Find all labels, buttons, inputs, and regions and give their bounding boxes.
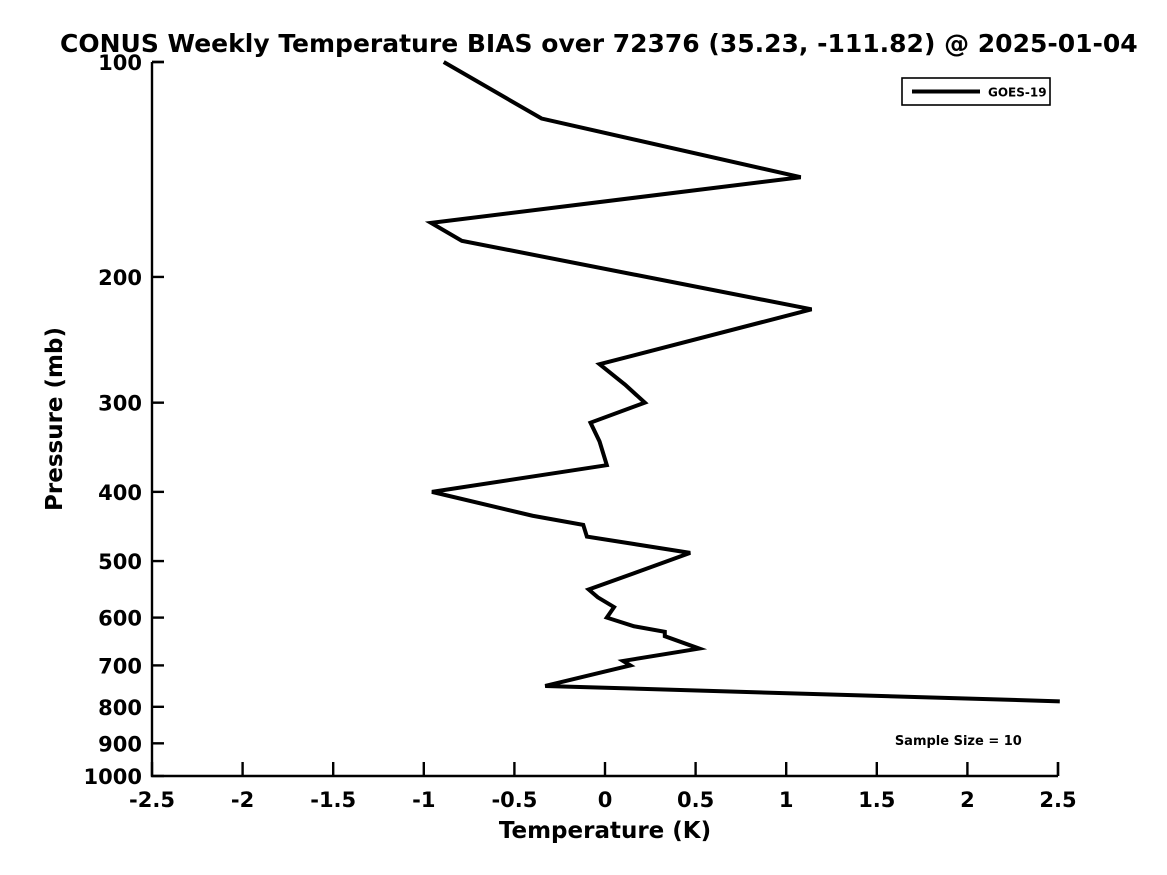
sample-size-annotation: Sample Size = 10 bbox=[895, 734, 1022, 749]
x-tick-label: 2 bbox=[960, 788, 975, 812]
y-tick-label: 700 bbox=[98, 654, 142, 678]
x-axis-label: Temperature (K) bbox=[499, 818, 711, 844]
x-tick-label: -2.5 bbox=[129, 788, 175, 812]
data-series-group bbox=[431, 62, 1060, 701]
y-tick-label: 600 bbox=[98, 607, 142, 631]
x-tick-label: 0 bbox=[598, 788, 613, 812]
y-tick-label: 200 bbox=[98, 266, 142, 290]
chart-title-group: CONUS Weekly Temperature BIAS over 72376… bbox=[60, 29, 1138, 58]
y-tick-label: 100 bbox=[98, 51, 142, 75]
x-axis-label-group: Temperature (K) bbox=[499, 818, 711, 844]
x-tick-label: -1.5 bbox=[310, 788, 356, 812]
y-tick-label: 500 bbox=[98, 550, 142, 574]
y-tick-label: 900 bbox=[98, 732, 142, 756]
y-axis-label-group: Pressure (mb) bbox=[42, 327, 68, 511]
page-title: CONUS Weekly Temperature BIAS over 72376… bbox=[60, 29, 1138, 58]
series-line-goes-19 bbox=[431, 62, 1060, 701]
x-tick-label: 0.5 bbox=[677, 788, 714, 812]
x-tick-label: 1 bbox=[779, 788, 794, 812]
x-tick-label: -2 bbox=[231, 788, 254, 812]
x-tick-label: 1.5 bbox=[858, 788, 895, 812]
temperature-bias-profile-chart: CONUS Weekly Temperature BIAS over 72376… bbox=[0, 0, 1167, 875]
y-tick-label: 800 bbox=[98, 696, 142, 720]
x-tick-label: -1 bbox=[412, 788, 435, 812]
y-axis-label: Pressure (mb) bbox=[42, 327, 68, 511]
chart-legend[interactable]: GOES-19 bbox=[902, 78, 1050, 105]
y-tick-label: 1000 bbox=[84, 765, 142, 789]
y-tick-label: 400 bbox=[98, 481, 142, 505]
x-axis-ticks: -2.5-2-1.5-1-0.500.511.522.5 bbox=[129, 762, 1077, 812]
x-tick-label: 2.5 bbox=[1039, 788, 1076, 812]
chart-annotations: Sample Size = 10 bbox=[895, 734, 1022, 749]
legend-label-goes-19: GOES-19 bbox=[988, 86, 1047, 100]
x-tick-label: -0.5 bbox=[491, 788, 537, 812]
y-tick-label: 300 bbox=[98, 392, 142, 416]
chart-figure: CONUS Weekly Temperature BIAS over 72376… bbox=[0, 0, 1167, 875]
